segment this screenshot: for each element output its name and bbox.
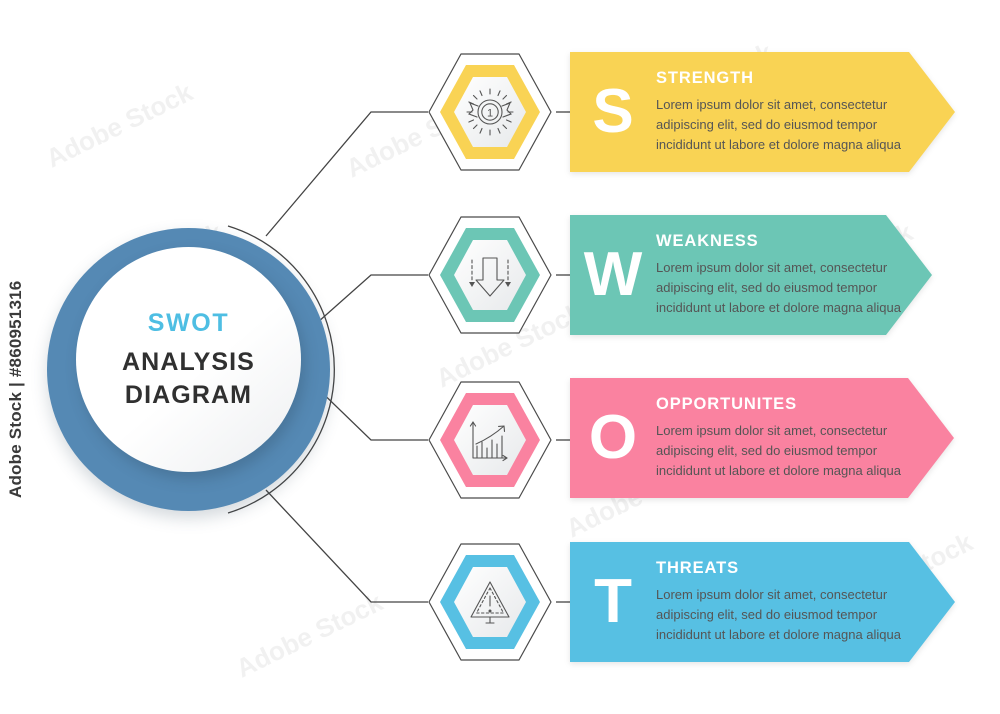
- banner-text-block: OPPORTUNITES Lorem ipsum dolor sit amet,…: [656, 395, 954, 482]
- banner-body: Lorem ipsum dolor sit amet, consectetur …: [656, 585, 915, 646]
- banner-body-line: adipiscing elit, sed do eiusmod tempor: [656, 115, 915, 135]
- banner-text-block: WEAKNESS Lorem ipsum dolor sit amet, con…: [656, 232, 941, 319]
- banner-letter-t: T: [570, 571, 656, 633]
- banner-body-line: incididunt ut labore et dolore magna ali…: [656, 298, 901, 318]
- banner-heading: THREATS: [656, 559, 915, 578]
- banner-body-line: adipiscing elit, sed do eiusmod tempor: [656, 278, 901, 298]
- swot-kicker: SWOT: [148, 308, 229, 338]
- banner-letter-w: W: [570, 244, 656, 306]
- swot-diagram-canvas: Adobe Stock Adobe Stock Adobe Stock Adob…: [0, 0, 1000, 714]
- banner-body-line: Lorem ipsum dolor sit amet, consectetur: [656, 585, 915, 605]
- banner-body-line: Lorem ipsum dolor sit amet, consectetur: [656, 258, 901, 278]
- circle-inner-disc: SWOT ANALYSIS DIAGRAM: [76, 247, 301, 472]
- hexagon-weakness[interactable]: [425, 213, 555, 337]
- hexagon-strength[interactable]: 1: [425, 50, 555, 174]
- banner-letter-s: S: [570, 81, 656, 143]
- banner-body-line: incididunt ut labore et dolore magna ali…: [656, 461, 914, 481]
- banner-body-line: Lorem ipsum dolor sit amet, consectetur: [656, 95, 915, 115]
- banner-weakness[interactable]: W WEAKNESS Lorem ipsum dolor sit amet, c…: [570, 215, 932, 335]
- banner-body-line: incididunt ut labore et dolore magna ali…: [656, 625, 915, 645]
- banner-text-block: THREATS Lorem ipsum dolor sit amet, cons…: [656, 559, 955, 646]
- banner-body: Lorem ipsum dolor sit amet, consectetur …: [656, 95, 915, 156]
- banner-body-line: Lorem ipsum dolor sit amet, consectetur: [656, 421, 914, 441]
- banner-opportunites[interactable]: O OPPORTUNITES Lorem ipsum dolor sit ame…: [570, 378, 954, 498]
- banner-text-block: STRENGTH Lorem ipsum dolor sit amet, con…: [656, 69, 955, 156]
- adobe-stock-watermark: Adobe Stock | #860951316: [6, 268, 26, 498]
- banner-body: Lorem ipsum dolor sit amet, consectetur …: [656, 421, 914, 482]
- banner-heading: OPPORTUNITES: [656, 395, 914, 414]
- center-title-line1: ANALYSIS: [122, 346, 255, 379]
- banner-heading: WEAKNESS: [656, 232, 901, 251]
- banner-strength[interactable]: S STRENGTH Lorem ipsum dolor sit amet, c…: [570, 52, 955, 172]
- banner-heading: STRENGTH: [656, 69, 915, 88]
- banner-threats[interactable]: T THREATS Lorem ipsum dolor sit amet, co…: [570, 542, 955, 662]
- watermark-tile: Adobe Stock: [231, 587, 387, 685]
- banner-body-line: incididunt ut labore et dolore magna ali…: [656, 135, 915, 155]
- hexagon-opportunites[interactable]: [425, 378, 555, 502]
- center-circle: SWOT ANALYSIS DIAGRAM: [47, 228, 330, 511]
- banner-body-line: adipiscing elit, sed do eiusmod tempor: [656, 605, 915, 625]
- banner-body-line: adipiscing elit, sed do eiusmod tempor: [656, 441, 914, 461]
- banner-body: Lorem ipsum dolor sit amet, consectetur …: [656, 258, 901, 319]
- center-title-line2: DIAGRAM: [125, 379, 252, 412]
- banner-letter-o: O: [570, 407, 656, 469]
- watermark-tile: Adobe Stock: [41, 77, 197, 175]
- hexagon-threats[interactable]: [425, 540, 555, 664]
- svg-text:1: 1: [487, 108, 493, 120]
